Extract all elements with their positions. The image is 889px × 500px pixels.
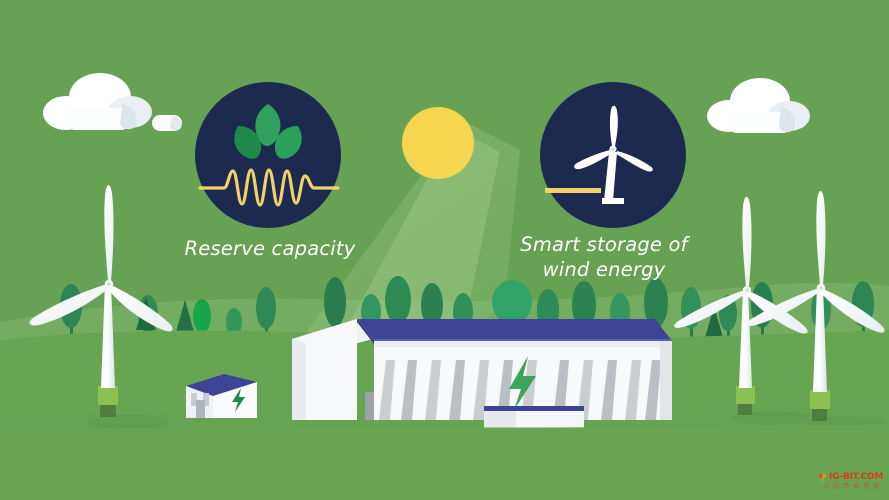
battery-storage-factory bbox=[292, 319, 672, 420]
ground-foreground bbox=[0, 424, 889, 500]
tri-dot-logo-icon bbox=[818, 473, 827, 482]
badge-smart-storage-wind[interactable] bbox=[540, 82, 686, 228]
watermark-subtitle: 大 比 特 商 务 网 bbox=[818, 483, 886, 490]
yellow-base-line bbox=[545, 188, 601, 193]
site-watermark: IG-BIT.COM 大 比 特 商 务 网 bbox=[818, 470, 886, 492]
watermark-domain: IG-BIT.COM bbox=[829, 473, 883, 482]
landscape-layer bbox=[0, 0, 889, 500]
badge-label-reserve-capacity: Reserve capacity bbox=[160, 236, 380, 261]
badge-reserve-capacity[interactable] bbox=[195, 82, 341, 228]
factory-main-roof bbox=[357, 319, 672, 341]
sun bbox=[402, 107, 474, 179]
cloud-left-small bbox=[152, 115, 182, 131]
illustration-canvas: Reserve capacity Smart storage of wind e… bbox=[0, 0, 889, 500]
badge-label-smart-storage: Smart storage of wind energy bbox=[484, 232, 724, 282]
badge-circle bbox=[195, 82, 341, 228]
